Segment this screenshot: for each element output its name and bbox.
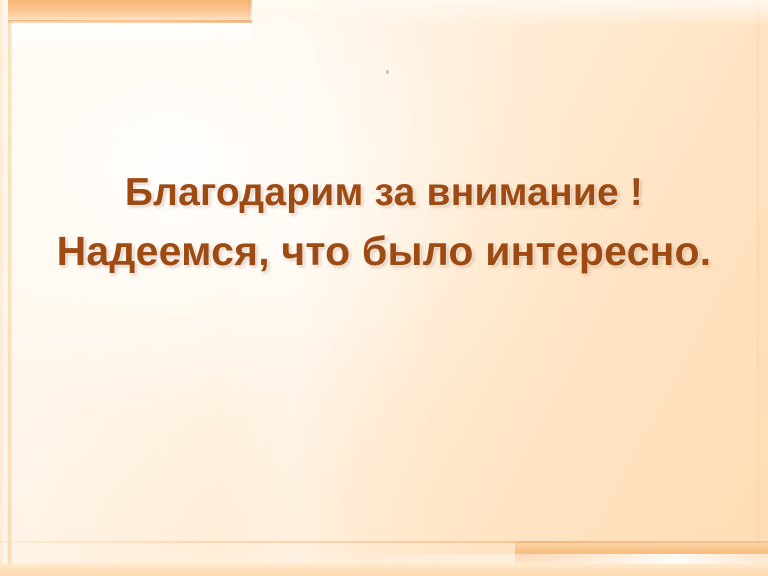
left-vertical-rule	[7, 0, 13, 576]
top-left-orange-bar	[8, 0, 250, 20]
slide-text-block: Благодарим за внимание ! Надеемся, что б…	[0, 168, 768, 278]
background-sheen	[0, 0, 768, 576]
top-left-bar-right-edge	[248, 0, 252, 24]
slide-title-line-2: Надеемся, что было интересно.	[0, 224, 768, 278]
bottom-edge-strip	[0, 564, 768, 576]
slide-title-line-1: Благодарим за внимание !	[0, 168, 768, 218]
right-vertical-rule	[756, 0, 760, 576]
top-right-highlight-wash	[252, 0, 768, 26]
top-left-white-panel	[12, 23, 250, 53]
slide-canvas: Благодарим за внимание ! Надеемся, что б…	[0, 0, 768, 576]
faint-speck-mark	[386, 70, 389, 74]
